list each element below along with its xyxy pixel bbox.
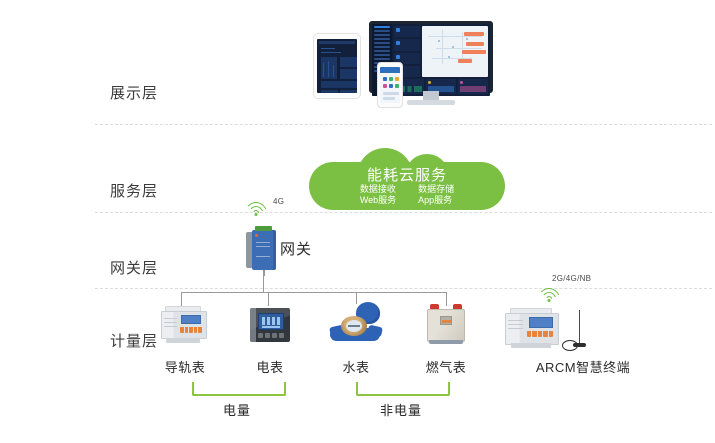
smartphone-app: [377, 62, 403, 108]
din-rail-meter-icon: [161, 306, 207, 344]
layer-label-service: 服务层: [110, 180, 158, 201]
gas-meter-icon: [424, 304, 468, 344]
meter-label-electricity: 电表: [250, 357, 290, 376]
layer-label-display: 展示层: [110, 82, 158, 103]
layer-label-metering: 计量层: [110, 330, 158, 351]
meter-label-din-rail: 导轨表: [163, 357, 207, 376]
layer-label-gateway: 网关层: [110, 257, 158, 278]
meter-label-water: 水表: [336, 357, 376, 376]
meter-label-gas: 燃气表: [417, 357, 475, 376]
bracket-non-electric: [356, 382, 450, 396]
wire-drop-din: [181, 292, 182, 306]
terminal-wifi-icon: [536, 284, 562, 302]
gateway-device-icon: [246, 226, 276, 272]
bracket-electric: [192, 382, 286, 396]
wire-drop-panel: [268, 292, 269, 306]
tablet-dashboard: [313, 33, 361, 99]
tablet-screen: [317, 39, 357, 93]
wire-gateway-drop: [263, 272, 264, 292]
cloud-feature-web-service: Web服务: [360, 195, 396, 206]
gateway-label: 网关: [280, 238, 312, 259]
layer-divider-2: [95, 212, 712, 213]
group-label-electric: 电量: [192, 400, 282, 419]
phone-screen: [380, 67, 400, 103]
gateway-network-label: 4G: [273, 197, 284, 206]
layer-divider-1: [95, 124, 712, 125]
panel-meter-icon: [250, 308, 290, 344]
monitor-stand-base: [407, 100, 455, 105]
terminal-label: ARCM智慧终端: [528, 357, 638, 376]
cloud-feature-data-storage: 数据存储: [418, 184, 454, 195]
cloud-title: 能耗云服务: [309, 164, 505, 185]
dashboard-map: [422, 26, 488, 77]
diagram-canvas: 展示层 服务层 网关层 计量层: [0, 0, 715, 443]
wire-meter-bus: [181, 292, 446, 293]
terminal-network-label: 2G/4G/NB: [552, 274, 591, 283]
arcm-terminal-icon: [505, 308, 559, 350]
dashboard-bottom-panels: [394, 79, 488, 94]
cloud-feature-data-receive: 数据接收: [360, 184, 396, 195]
layer-divider-3: [95, 288, 712, 289]
group-label-non-electric: 非电量: [356, 400, 446, 419]
water-meter-icon: [330, 302, 382, 344]
gateway-wifi-icon: [243, 198, 269, 216]
antenna-icon: [562, 310, 588, 354]
cloud-service-shape: 能耗云服务 数据接收 Web服务 数据存储 App服务: [309, 148, 505, 210]
cloud-feature-app-service: App服务: [418, 195, 454, 206]
